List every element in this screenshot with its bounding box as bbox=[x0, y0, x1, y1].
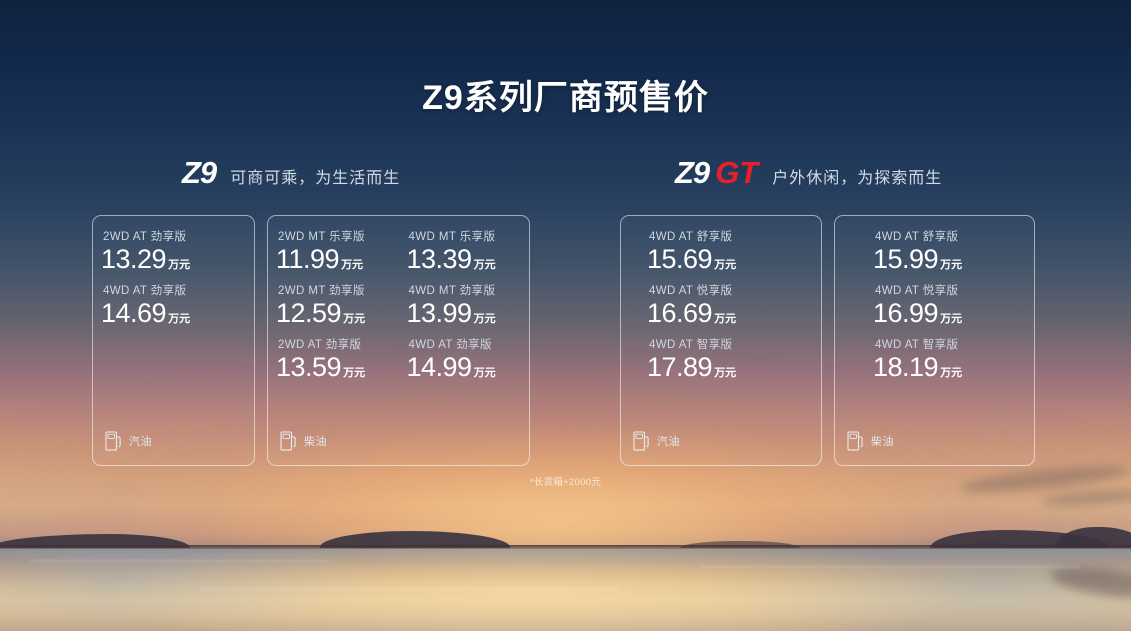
card-columns: 4WD AT 舒享版 15.69万元 4WD AT 悦享版 16.69万元 4W… bbox=[621, 228, 821, 390]
price-unit: 万元 bbox=[343, 313, 365, 325]
price-unit: 万元 bbox=[474, 367, 496, 379]
trim-price: 15.99万元 bbox=[873, 245, 1026, 274]
trim-row: 4WD MT 劲享版 13.99万元 bbox=[407, 282, 522, 328]
price-unit: 万元 bbox=[714, 313, 736, 325]
price-value: 11.99 bbox=[276, 244, 339, 274]
fuel-label: 柴油 bbox=[871, 433, 894, 449]
fuel-badge: 汽油 bbox=[105, 430, 152, 451]
trim-price: 13.29万元 bbox=[101, 245, 246, 274]
series-tagline-z9gt: 户外休闲，为探索而生 bbox=[772, 164, 942, 188]
series-header-z9gt: Z9 GT 户外休闲，为探索而生 bbox=[675, 157, 942, 188]
price-unit: 万元 bbox=[714, 259, 736, 271]
card-column: 4WD AT 舒享版 15.99万元 4WD AT 悦享版 16.99万元 4W… bbox=[835, 228, 1034, 390]
presentation-slide: Z9系列厂商预售价 Z9 可商可乘，为生活而生 Z9 GT 户外休闲，为探索而生… bbox=[0, 0, 1131, 631]
fuel-badge: 汽油 bbox=[633, 430, 680, 451]
price-value: 16.69 bbox=[647, 298, 712, 328]
gas-pump-icon bbox=[280, 430, 297, 451]
trim-price: 13.59万元 bbox=[276, 353, 391, 382]
trim-row: 4WD AT 劲享版 14.99万元 bbox=[407, 336, 522, 382]
trim-row: 4WD AT 劲享版 14.69万元 bbox=[101, 282, 246, 328]
trim-row: 4WD AT 舒享版 15.99万元 bbox=[873, 228, 1026, 274]
trim-price: 14.69万元 bbox=[101, 299, 246, 328]
fuel-label: 柴油 bbox=[304, 433, 327, 449]
trim-row: 4WD MT 乐享版 13.39万元 bbox=[407, 228, 522, 274]
price-value: 17.89 bbox=[647, 352, 712, 382]
trim-price: 13.99万元 bbox=[407, 299, 522, 328]
trim-name: 4WD AT 劲享版 bbox=[407, 336, 522, 352]
series-badge-gt: GT bbox=[715, 157, 758, 188]
series-tagline-z9: 可商可乘，为生活而生 bbox=[230, 164, 400, 188]
price-unit: 万元 bbox=[474, 259, 496, 271]
price-value: 16.99 bbox=[873, 298, 938, 328]
card-columns: 2WD MT 乐享版 11.99万元 2WD MT 劲享版 12.59万元 2W… bbox=[268, 228, 529, 390]
price-value: 13.59 bbox=[276, 352, 341, 382]
price-unit: 万元 bbox=[940, 259, 962, 271]
trim-name: 4WD AT 智享版 bbox=[647, 336, 813, 352]
price-unit: 万元 bbox=[940, 367, 962, 379]
price-unit: 万元 bbox=[343, 367, 365, 379]
trim-name: 2WD MT 劲享版 bbox=[276, 282, 391, 298]
trim-name: 2WD MT 乐享版 bbox=[276, 228, 391, 244]
trim-row: 4WD AT 悦享版 16.99万元 bbox=[873, 282, 1026, 328]
trim-name: 4WD AT 舒享版 bbox=[873, 228, 1026, 244]
price-value: 15.99 bbox=[873, 244, 938, 274]
card-column: 2WD MT 乐享版 11.99万元 2WD MT 劲享版 12.59万元 2W… bbox=[268, 228, 399, 390]
price-value: 13.29 bbox=[101, 244, 166, 274]
fuel-badge: 柴油 bbox=[280, 430, 327, 451]
trim-price: 13.39万元 bbox=[407, 245, 522, 274]
price-card[interactable]: 2WD MT 乐享版 11.99万元 2WD MT 劲享版 12.59万元 2W… bbox=[267, 215, 530, 466]
price-card[interactable]: 2WD AT 劲享版 13.29万元 4WD AT 劲享版 14.69万元 bbox=[92, 215, 255, 466]
price-unit: 万元 bbox=[940, 313, 962, 325]
trim-name: 2WD AT 劲享版 bbox=[276, 336, 391, 352]
trim-name: 4WD AT 智享版 bbox=[873, 336, 1026, 352]
trim-price: 16.99万元 bbox=[873, 299, 1026, 328]
price-value: 14.69 bbox=[101, 298, 166, 328]
trim-name: 4WD AT 悦享版 bbox=[647, 282, 813, 298]
trim-price: 16.69万元 bbox=[647, 299, 813, 328]
trim-price: 17.89万元 bbox=[647, 353, 813, 382]
trim-row: 2WD MT 劲享版 12.59万元 bbox=[276, 282, 391, 328]
trim-price: 15.69万元 bbox=[647, 245, 813, 274]
trim-row: 2WD AT 劲享版 13.29万元 bbox=[101, 228, 246, 274]
series-logo-z9: Z9 bbox=[182, 157, 216, 188]
slide-content: Z9系列厂商预售价 Z9 可商可乘，为生活而生 Z9 GT 户外休闲，为探索而生… bbox=[0, 0, 1131, 631]
fuel-label: 汽油 bbox=[657, 433, 680, 449]
trim-price: 18.19万元 bbox=[873, 353, 1026, 382]
trim-price: 11.99万元 bbox=[276, 245, 391, 274]
trim-price: 12.59万元 bbox=[276, 299, 391, 328]
card-columns: 4WD AT 舒享版 15.99万元 4WD AT 悦享版 16.99万元 4W… bbox=[835, 228, 1034, 390]
gas-pump-icon bbox=[847, 430, 864, 451]
trim-price: 14.99万元 bbox=[407, 353, 522, 382]
trim-name: 2WD AT 劲享版 bbox=[101, 228, 246, 244]
trim-name: 4WD AT 悦享版 bbox=[873, 282, 1026, 298]
series-logo-z9: Z9 bbox=[675, 157, 709, 188]
trim-name: 4WD MT 乐享版 bbox=[407, 228, 522, 244]
price-unit: 万元 bbox=[341, 259, 363, 271]
price-value: 15.69 bbox=[647, 244, 712, 274]
trim-row: 4WD AT 舒享版 15.69万元 bbox=[647, 228, 813, 274]
price-value: 14.99 bbox=[407, 352, 472, 382]
trim-row: 2WD MT 乐享版 11.99万元 bbox=[276, 228, 391, 274]
price-unit: 万元 bbox=[714, 367, 736, 379]
price-card[interactable]: 4WD AT 舒享版 15.69万元 4WD AT 悦享版 16.69万元 4W… bbox=[620, 215, 822, 466]
price-value: 12.59 bbox=[276, 298, 341, 328]
price-value: 13.39 bbox=[407, 244, 472, 274]
price-value: 13.99 bbox=[407, 298, 472, 328]
page-title: Z9系列厂商预售价 bbox=[0, 70, 1131, 119]
series-header-z9: Z9 可商可乘，为生活而生 bbox=[182, 157, 400, 188]
trim-row: 4WD AT 智享版 17.89万元 bbox=[647, 336, 813, 382]
trim-name: 4WD AT 舒享版 bbox=[647, 228, 813, 244]
card-column: 4WD MT 乐享版 13.39万元 4WD MT 劲享版 13.99万元 4W… bbox=[399, 228, 530, 390]
trim-row: 2WD AT 劲享版 13.59万元 bbox=[276, 336, 391, 382]
fuel-badge: 柴油 bbox=[847, 430, 894, 451]
price-card[interactable]: 4WD AT 舒享版 15.99万元 4WD AT 悦享版 16.99万元 4W… bbox=[834, 215, 1035, 466]
card-columns: 2WD AT 劲享版 13.29万元 4WD AT 劲享版 14.69万元 bbox=[93, 228, 254, 336]
trim-name: 4WD AT 劲享版 bbox=[101, 282, 246, 298]
fuel-label: 汽油 bbox=[129, 433, 152, 449]
price-value: 18.19 bbox=[873, 352, 938, 382]
price-unit: 万元 bbox=[474, 313, 496, 325]
trim-row: 4WD AT 智享版 18.19万元 bbox=[873, 336, 1026, 382]
trim-row: 4WD AT 悦享版 16.69万元 bbox=[647, 282, 813, 328]
gas-pump-icon bbox=[633, 430, 650, 451]
card-column: 4WD AT 舒享版 15.69万元 4WD AT 悦享版 16.69万元 4W… bbox=[621, 228, 821, 390]
price-unit: 万元 bbox=[168, 313, 190, 325]
gas-pump-icon bbox=[105, 430, 122, 451]
trim-name: 4WD MT 劲享版 bbox=[407, 282, 522, 298]
card-column: 2WD AT 劲享版 13.29万元 4WD AT 劲享版 14.69万元 bbox=[93, 228, 254, 336]
price-unit: 万元 bbox=[168, 259, 190, 271]
footnote: *长货箱+2000元 bbox=[0, 474, 1131, 488]
